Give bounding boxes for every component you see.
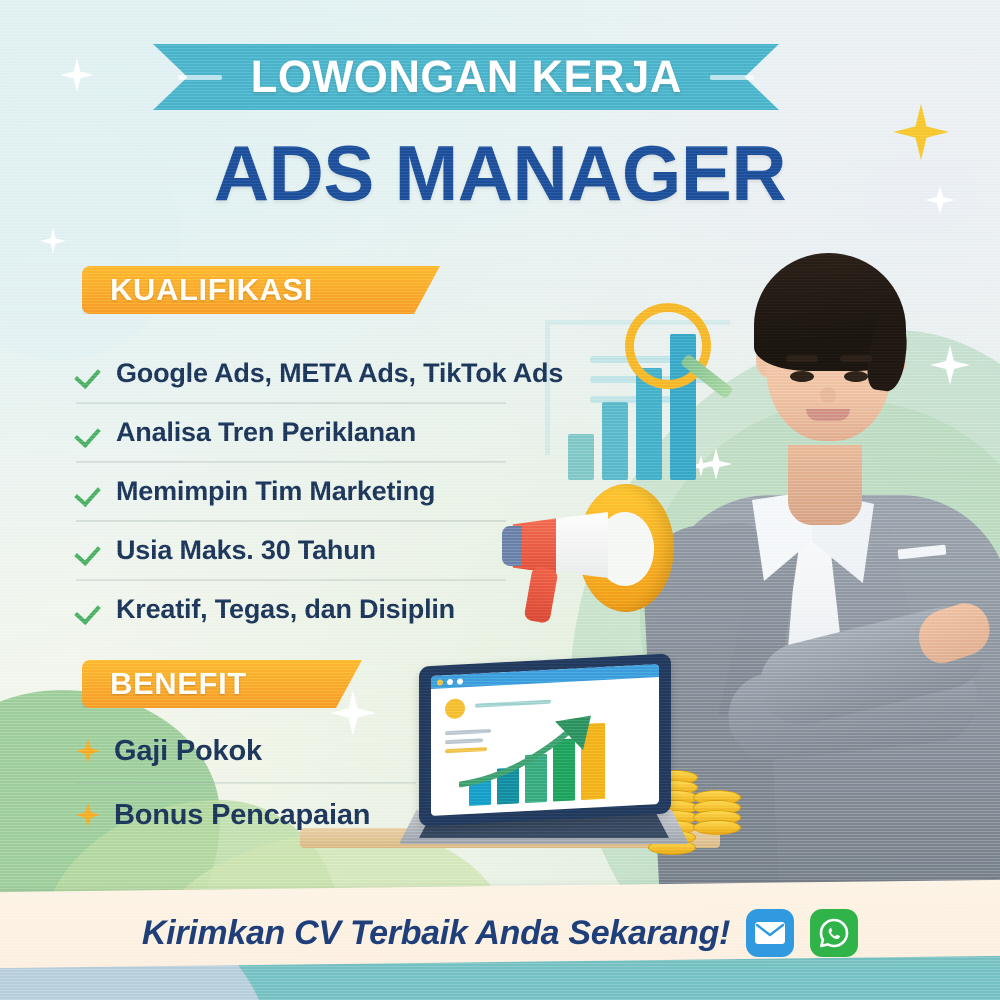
list-item: Analisa Tren Periklanan	[76, 404, 506, 463]
megaphone-icon	[500, 480, 720, 630]
mouth-smile	[806, 409, 850, 421]
browser-dot-yellow	[437, 679, 443, 685]
deco-bar	[568, 434, 594, 480]
section-badge-label: BENEFIT	[110, 666, 247, 702]
list-item-label: Kreatif, Tegas, dan Disiplin	[116, 594, 455, 625]
sparkle-icon	[40, 228, 66, 254]
growth-arrow-icon	[459, 713, 609, 791]
email-button[interactable]	[746, 909, 794, 957]
ribbon-label: LOWONGAN KERJA	[250, 51, 681, 103]
deco-bar	[602, 402, 628, 480]
ribbon-dash-right	[710, 75, 754, 80]
check-icon	[76, 479, 102, 505]
megaphone-handle	[524, 566, 559, 624]
cta-text: Kirimkan CV Terbaik Anda Sekarang!	[142, 914, 730, 953]
list-item: Gaji Pokok	[76, 720, 416, 784]
eye-right	[844, 371, 868, 382]
laptop-screen	[431, 664, 659, 816]
list-item: Google Ads, META Ads, TikTok Ads	[76, 345, 506, 404]
job-vacancy-poster: LOWONGAN KERJA ADS MANAGER KUALIFIKASI G…	[0, 0, 1000, 1000]
check-icon	[76, 597, 102, 623]
section-badge-benefit: BENEFIT	[82, 660, 362, 708]
sparkle-icon	[60, 58, 94, 92]
neck	[788, 445, 862, 525]
check-icon	[76, 361, 102, 387]
nose	[820, 387, 836, 403]
whatsapp-button[interactable]	[810, 909, 858, 957]
benefit-list: Gaji Pokok Bonus Pencapaian	[76, 720, 416, 846]
list-item-label: Bonus Pencapaian	[114, 799, 370, 832]
list-item: Bonus Pencapaian	[76, 784, 416, 846]
list-item: Memimpin Tim Marketing	[76, 463, 506, 522]
star-icon	[76, 739, 100, 763]
ribbon-content: LOWONGAN KERJA	[153, 44, 779, 110]
list-item: Usia Maks. 30 Tahun	[76, 522, 506, 581]
list-item-label: Usia Maks. 30 Tahun	[116, 535, 376, 566]
eye-left	[790, 371, 814, 382]
cta-row: Kirimkan CV Terbaik Anda Sekarang!	[0, 905, 1000, 961]
section-badge-label: KUALIFIKASI	[110, 272, 313, 308]
browser-dot-white	[447, 678, 453, 684]
section-badge-kualifikasi: KUALIFIKASI	[82, 266, 440, 314]
list-item-label: Google Ads, META Ads, TikTok Ads	[116, 358, 563, 389]
qualification-list: Google Ads, META Ads, TikTok Ads Analisa…	[76, 345, 506, 638]
list-item: Kreatif, Tegas, dan Disiplin	[76, 581, 506, 638]
screen-text-line	[475, 700, 551, 708]
list-item-label: Gaji Pokok	[114, 735, 262, 768]
email-icon	[755, 922, 785, 944]
screen-avatar-circle	[445, 698, 465, 719]
laptop-illustration	[385, 660, 685, 875]
browser-dot-white	[457, 678, 463, 684]
list-item-label: Memimpin Tim Marketing	[116, 476, 435, 507]
check-icon	[76, 420, 102, 446]
check-icon	[76, 538, 102, 564]
page-title: ADS MANAGER	[10, 128, 990, 219]
whatsapp-icon	[818, 917, 850, 949]
star-icon	[76, 803, 100, 827]
ribbon-dash-left	[178, 75, 222, 80]
eyebrow-right	[840, 355, 872, 362]
list-item-label: Analisa Tren Periklanan	[116, 417, 416, 448]
eyebrow-left	[786, 355, 818, 362]
coin	[693, 820, 741, 835]
